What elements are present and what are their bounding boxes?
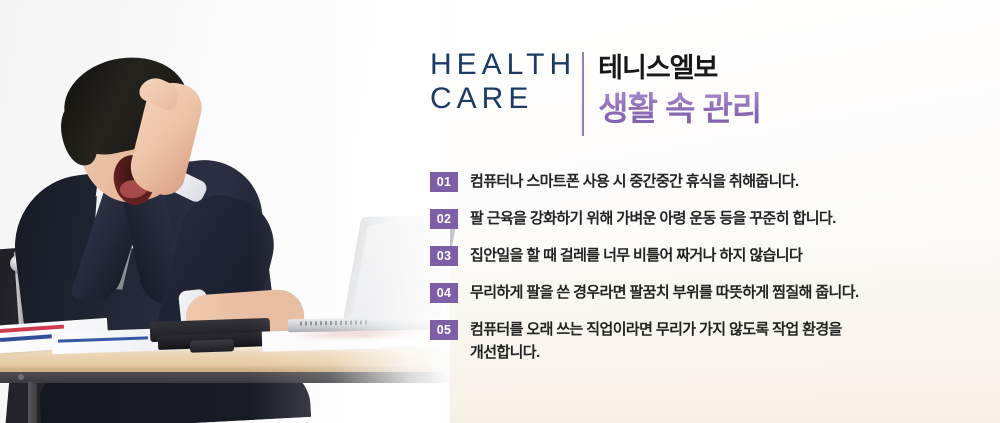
title-english-line2: CARE	[430, 82, 576, 116]
desk-screw	[18, 374, 24, 380]
tips-list: 01 컴퓨터나 스마트폰 사용 시 중간중간 휴식을 취해줍니다. 02 팔 근…	[430, 170, 950, 364]
title-english-block: HEALTH CARE	[430, 48, 576, 116]
desk-leg	[28, 382, 37, 423]
banner-title: HEALTH CARE 테니스엘보 생활 속 관리	[430, 48, 761, 136]
title-korean-line1: 테니스엘보	[598, 49, 761, 87]
tip-number-badge: 03	[430, 246, 458, 266]
title-korean-block: 테니스엘보 생활 속 관리	[598, 48, 761, 131]
tip-text: 집안일을 할 때 걸레를 너무 비틀어 짜거나 하지 않습니다	[470, 244, 802, 267]
tip-number-badge: 05	[430, 320, 458, 340]
title-english-line1: HEALTH	[430, 48, 576, 82]
tip-number-badge: 04	[430, 283, 458, 303]
title-korean-line2: 생활 속 관리	[598, 87, 761, 131]
tip-text: 무리하게 팔을 쓴 경우라면 팔꿈치 부위를 따뜻하게 찜질해 줍니다.	[470, 281, 859, 304]
healthcare-banner: HEALTH CARE 테니스엘보 생활 속 관리 01 컴퓨터나 스마트폰 사…	[0, 0, 1000, 423]
businessman-photo	[0, 0, 450, 423]
tip-text: 컴퓨터를 오래 쓰는 직업이라면 무리가 가지 않도록 작업 환경을 개선합니다…	[470, 318, 842, 364]
list-item: 03 집안일을 할 때 걸레를 너무 비틀어 짜거나 하지 않습니다	[430, 244, 950, 267]
photo-fade-overlay	[250, 0, 450, 423]
list-item: 04 무리하게 팔을 쓴 경우라면 팔꿈치 부위를 따뜻하게 찜질해 줍니다.	[430, 281, 950, 304]
tip-text: 컴퓨터나 스마트폰 사용 시 중간중간 휴식을 취해줍니다.	[470, 170, 799, 193]
banner-content: HEALTH CARE 테니스엘보 생활 속 관리 01 컴퓨터나 스마트폰 사…	[430, 0, 990, 423]
tip-text: 팔 근육을 강화하기 위해 가벼운 아령 운동 등을 꾸준히 합니다.	[470, 207, 836, 230]
list-item: 01 컴퓨터나 스마트폰 사용 시 중간중간 휴식을 취해줍니다.	[430, 170, 950, 193]
list-item: 02 팔 근육을 강화하기 위해 가벼운 아령 운동 등을 꾸준히 합니다.	[430, 207, 950, 230]
tip-number-badge: 01	[430, 172, 458, 192]
list-item: 05 컴퓨터를 오래 쓰는 직업이라면 무리가 가지 않도록 작업 환경을 개선…	[430, 318, 950, 364]
smartphone	[190, 339, 234, 353]
tip-number-badge: 02	[430, 209, 458, 229]
title-divider	[582, 52, 584, 136]
